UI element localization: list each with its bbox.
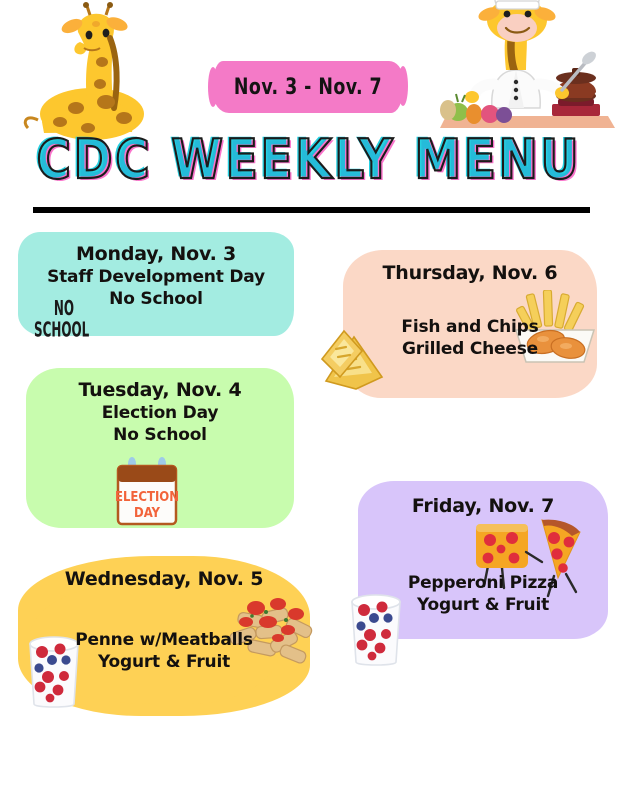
day-title-wednesday: Wednesday, Nov. 5 [18, 568, 310, 592]
election-day-calendar-icon: ELECTION DAY [110, 456, 184, 528]
day-line-wednesday-1: Penne w/Meatballs [18, 630, 310, 652]
date-range-badge: Nov. 3 - Nov. 7 [213, 61, 403, 113]
no-school-stamp-line2: SCHOOL [30, 320, 94, 342]
header-divider [33, 207, 590, 213]
election-calendar-line2: DAY [134, 506, 161, 521]
day-title-tuesday: Tuesday, Nov. 4 [26, 379, 294, 403]
day-line-monday-1: Staff Development Day [18, 267, 294, 289]
day-line-friday-1: Pepperoni Pizza [358, 573, 608, 595]
day-line-tuesday-2: No School [26, 425, 294, 447]
page-title: CDC WEEKLY MENU [12, 128, 605, 191]
day-line-friday-2: Yogurt & Fruit [358, 595, 608, 617]
day-line-thursday-1: Fish and Chips [343, 317, 597, 339]
day-card-friday: Friday, Nov. 7 Pepperoni Pizza Yogurt & … [358, 481, 608, 639]
election-calendar-line1: ELECTION [115, 490, 179, 505]
day-line-thursday-2: Grilled Cheese [343, 339, 597, 361]
giraffe-sitting-icon [14, 2, 164, 147]
no-school-stamp-line1: NO [54, 298, 74, 322]
no-school-stamp-icon: NO SCHOOL [34, 299, 93, 342]
giraffe-chef-icon [440, 0, 615, 145]
day-title-thursday: Thursday, Nov. 6 [343, 262, 597, 286]
day-line-wednesday-2: Yogurt & Fruit [18, 652, 310, 674]
day-title-friday: Friday, Nov. 7 [358, 495, 608, 519]
date-range-text: Nov. 3 - Nov. 7 [224, 61, 391, 113]
day-line-tuesday-1: Election Day [26, 403, 294, 425]
weekly-menu-poster: Nov. 3 - Nov. 7 CDC WEEKLY MENU Monday, … [0, 0, 618, 800]
day-title-monday: Monday, Nov. 3 [18, 243, 294, 267]
